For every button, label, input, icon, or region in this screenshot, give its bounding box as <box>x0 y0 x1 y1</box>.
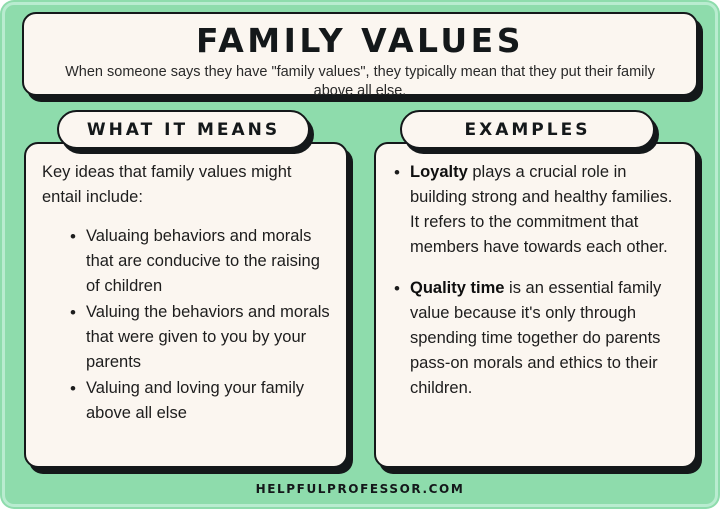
list-item-text: Valuing and loving your family above all… <box>86 379 304 422</box>
column-card-what-it-means: Key ideas that family values might entai… <box>24 142 348 468</box>
column-heading-label: EXAMPLES <box>465 120 591 140</box>
column-heading-label: WHAT IT MEANS <box>87 120 280 140</box>
page-title: FAMILY VALUES <box>42 21 678 61</box>
list-item: Quality time is an essential family valu… <box>390 276 683 401</box>
list-item-term: Loyalty <box>410 163 468 181</box>
page-subtitle: When someone says they have "family valu… <box>42 63 678 101</box>
column-heading-examples: EXAMPLES <box>400 110 655 149</box>
site-attribution: HELPFULPROFESSOR.COM <box>256 482 465 496</box>
what-it-means-bullet-list: Valuaing behaviors and morals that are c… <box>66 224 332 426</box>
footer: HELPFULPROFESSOR.COM <box>0 478 720 497</box>
list-item: Valuing and loving your family above all… <box>66 376 332 426</box>
title-banner-card: FAMILY VALUES When someone says they hav… <box>22 12 698 96</box>
column-heading-what-it-means: WHAT IT MEANS <box>57 110 310 149</box>
examples-bullet-list: Loyalty plays a crucial role in building… <box>390 160 683 401</box>
list-item: Loyalty plays a crucial role in building… <box>390 160 683 260</box>
list-item: Valuing the behaviors and morals that we… <box>66 300 332 375</box>
infographic-poster: FAMILY VALUES When someone says they hav… <box>0 0 720 509</box>
list-item: Valuaing behaviors and morals that are c… <box>66 224 332 299</box>
column-card-examples: Loyalty plays a crucial role in building… <box>374 142 697 468</box>
list-item-term: Quality time <box>410 279 504 297</box>
list-item-text: Valuaing behaviors and morals that are c… <box>86 227 320 295</box>
lead-paragraph: Key ideas that family values might entai… <box>42 160 332 210</box>
list-item-text: Valuing the behaviors and morals that we… <box>86 303 330 371</box>
